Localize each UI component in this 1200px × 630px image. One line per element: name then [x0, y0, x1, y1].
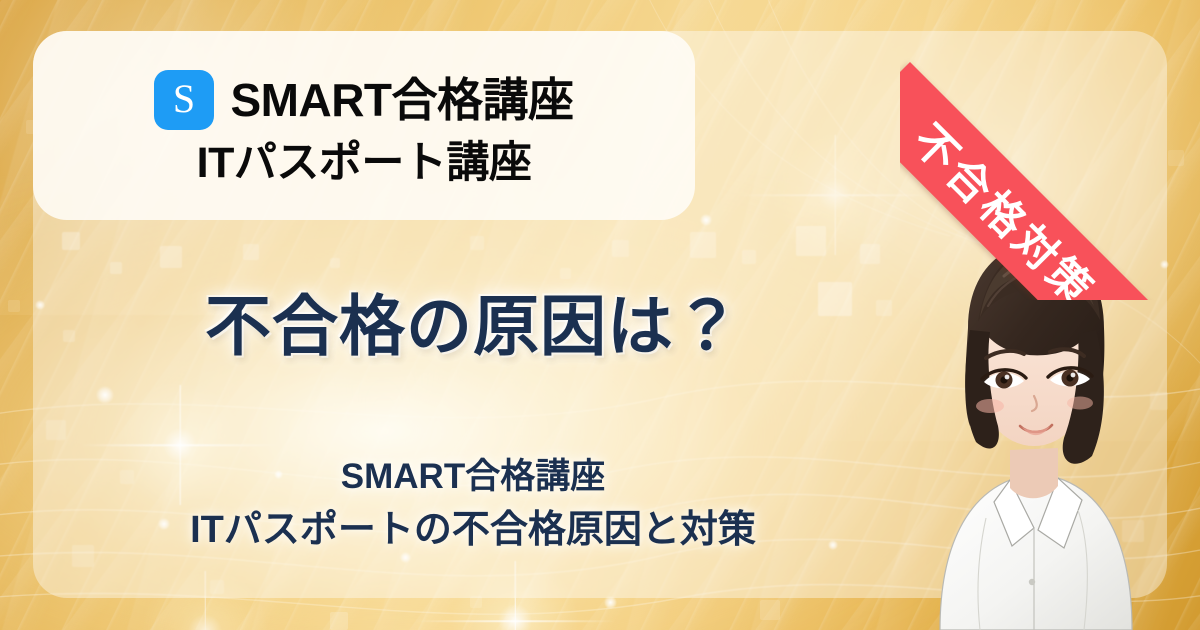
header-card: S SMART合格講座 ITパスポート講座 [33, 31, 695, 220]
woman-illustration [882, 210, 1182, 630]
thumbnail-canvas: S SMART合格講座 ITパスポート講座 不合格の原因は？ SMART合格講座… [0, 0, 1200, 630]
header-title-line1: SMART合格講座 [230, 77, 573, 123]
subtitle-line1: SMART合格講座 [33, 455, 913, 500]
smart-s-logo-icon: S [154, 70, 214, 130]
header-card-inner: S SMART合格講座 ITパスポート講座 [33, 31, 695, 220]
main-headline: 不合格の原因は？ [33, 292, 913, 361]
svg-text:S: S [173, 78, 195, 121]
header-title-line2: ITパスポート講座 [197, 142, 532, 185]
subtitle-block: SMART合格講座 ITパスポートの不合格原因と対策 [33, 455, 913, 554]
header-title-row: S SMART合格講座 [154, 70, 573, 130]
subtitle-line2: ITパスポートの不合格原因と対策 [33, 506, 913, 555]
